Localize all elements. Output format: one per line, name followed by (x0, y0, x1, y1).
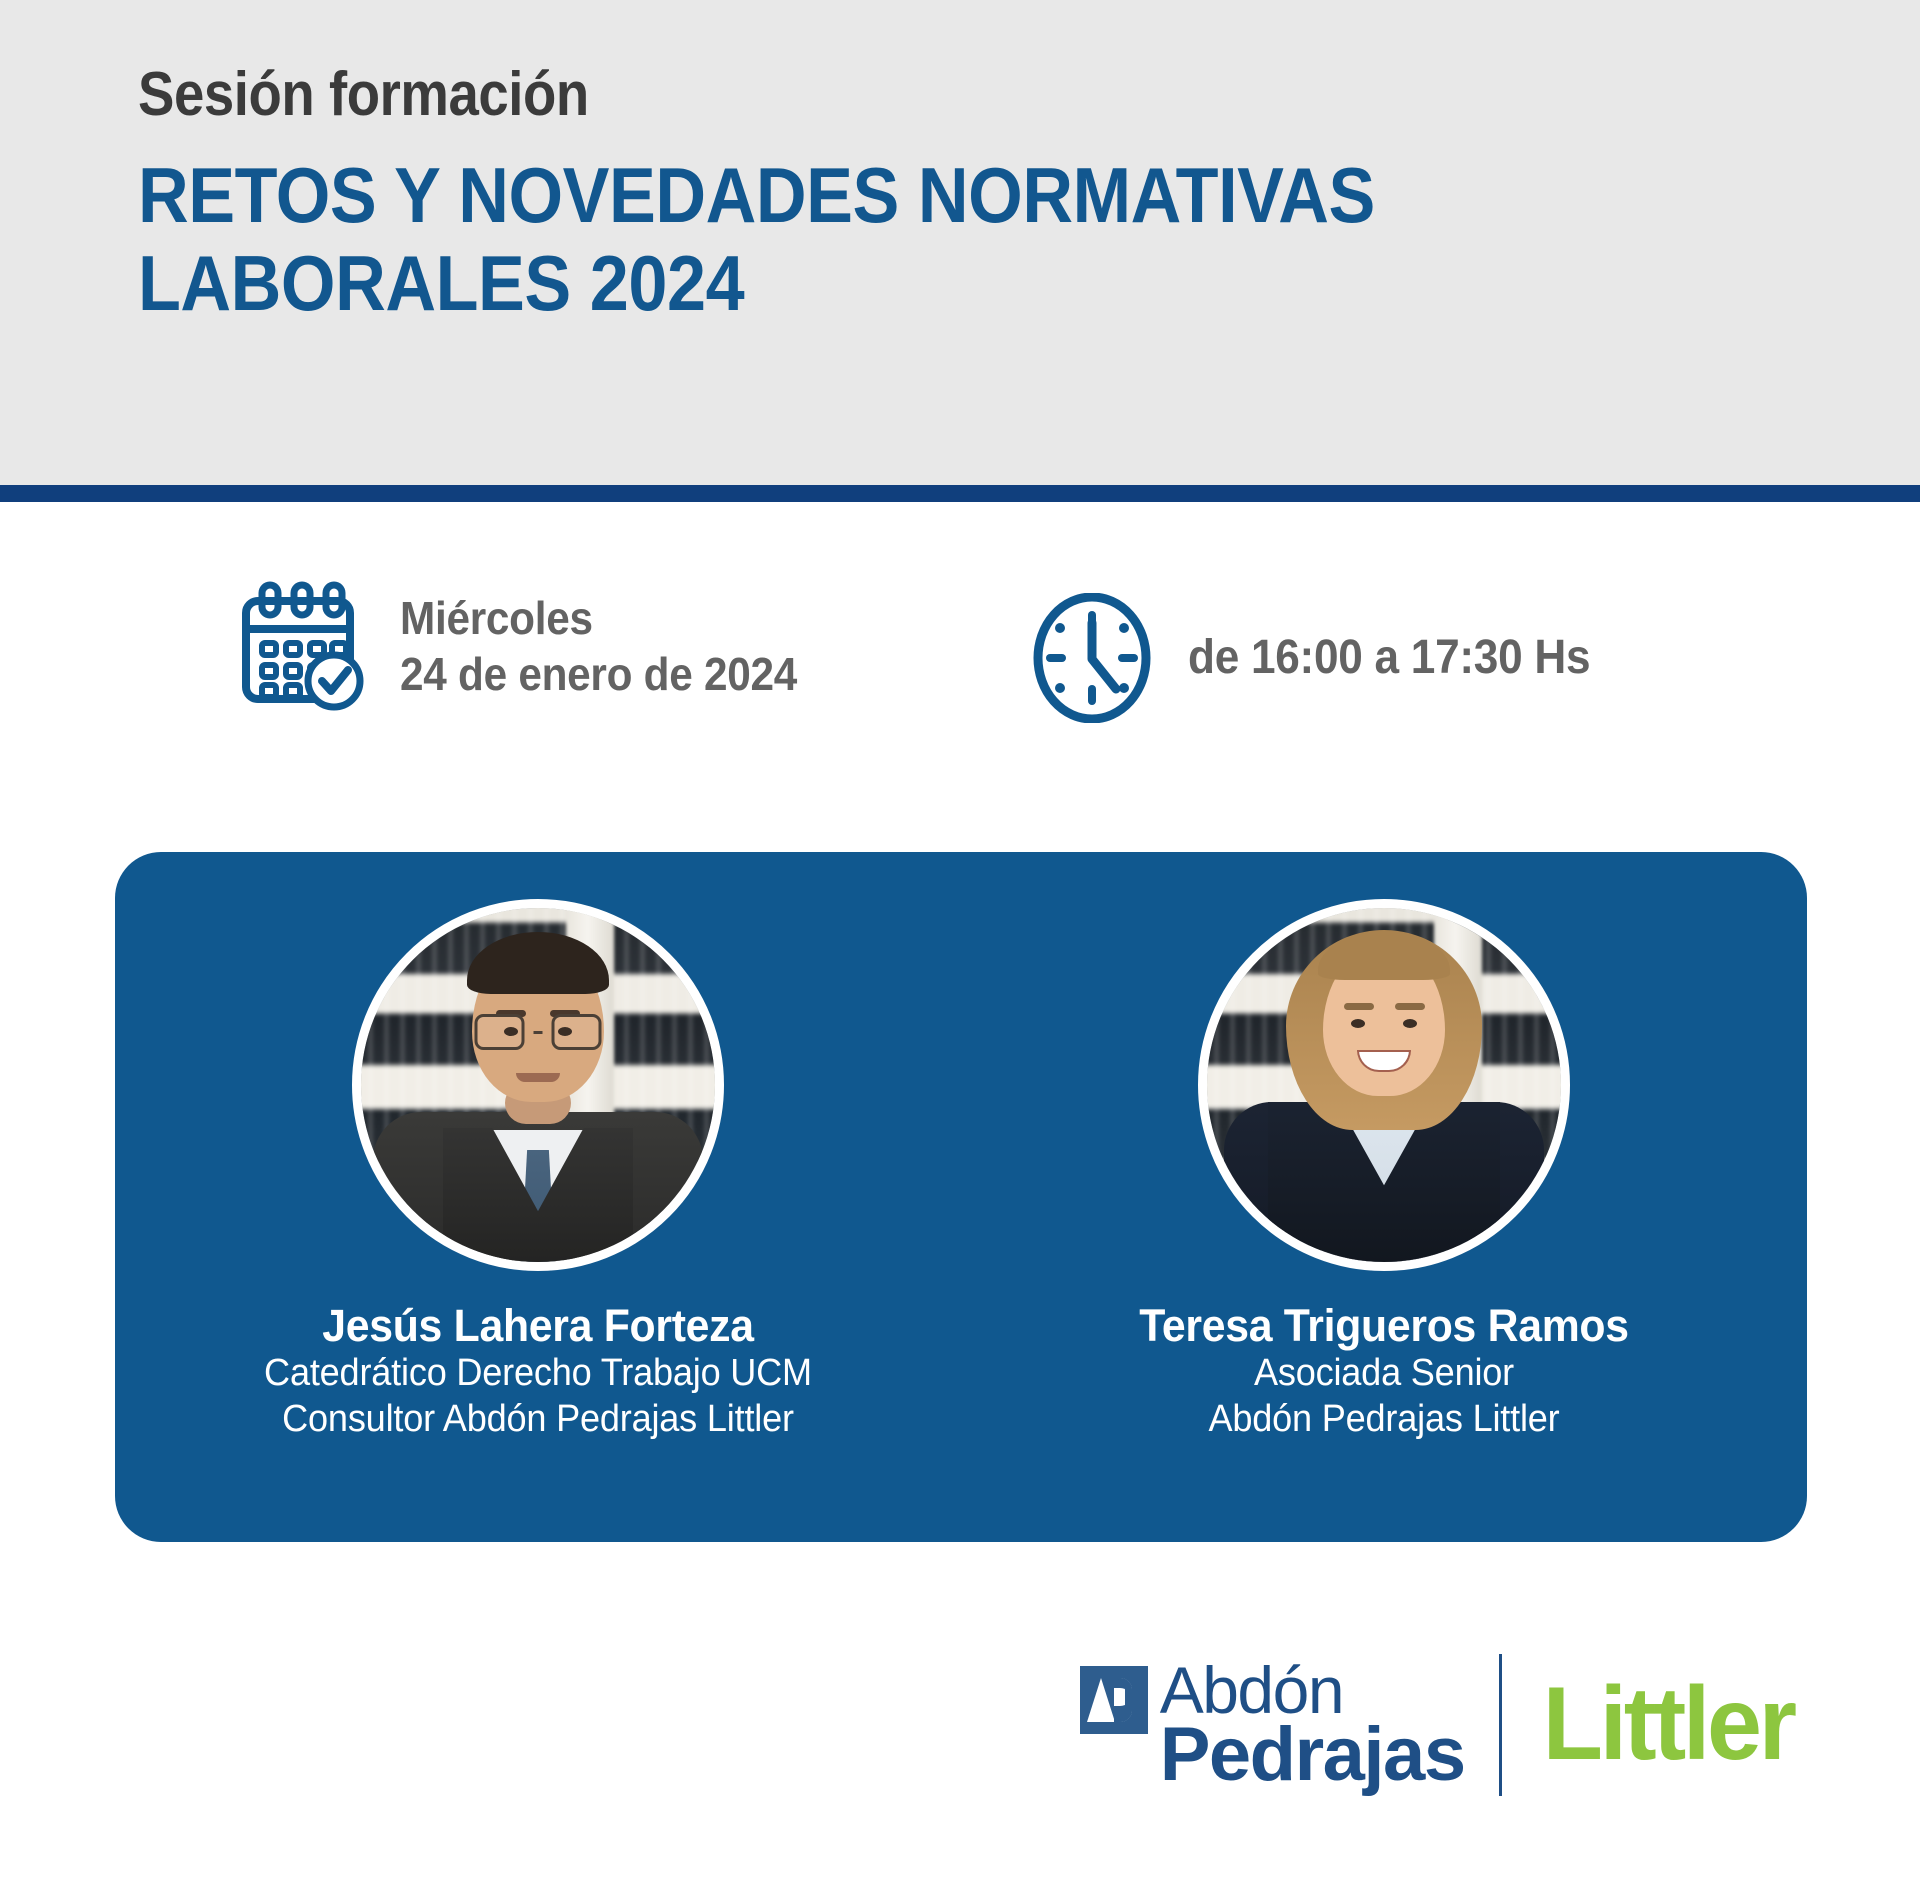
speaker-role-line-2: Consultor Abdón Pedrajas Littler (155, 1397, 921, 1442)
speaker-name: Teresa Trigueros Ramos (1001, 1301, 1767, 1351)
avatar (352, 899, 724, 1271)
header-divider-rule (0, 485, 1920, 502)
event-date-weekday: Miércoles (400, 590, 797, 646)
event-date-block: Miércoles 24 de enero de 2024 (238, 581, 832, 711)
speakers-grid: Jesús Lahera Forteza Catedrático Derecho… (115, 852, 1807, 1542)
speaker-card-1: Jesús Lahera Forteza Catedrático Derecho… (115, 852, 961, 1542)
clock-icon (1030, 593, 1154, 723)
event-info-row: Miércoles 24 de enero de 2024 de 16:00 a… (0, 575, 1920, 755)
session-kicker: Sesión formación (138, 62, 1581, 127)
logo-word-pedrajas: Pedrajas (1160, 1720, 1465, 1790)
footer: Abdón Pedrajas Littler (0, 1640, 1920, 1850)
header-text-block: Sesión formación RETOS Y NOVEDADES NORMA… (138, 62, 1778, 327)
speaker-meta-2: Teresa Trigueros Ramos Asociada Senior A… (961, 1301, 1807, 1442)
event-time-text: de 16:00 a 17:30 Hs (1188, 629, 1590, 688)
page-title-line-2: LABORALES 2024 (138, 239, 1614, 327)
abdon-pedrajas-wordmark: Abdón Pedrajas (1160, 1660, 1465, 1791)
event-time-block: de 16:00 a 17:30 Hs (1030, 593, 1625, 723)
speakers-card: Jesús Lahera Forteza Catedrático Derecho… (115, 852, 1807, 1542)
event-time-range: de 16:00 a 17:30 Hs (1188, 629, 1590, 688)
avatar (1198, 899, 1570, 1271)
page-title-line-1: RETOS Y NOVEDADES NORMATIVAS (138, 151, 1614, 239)
portrait-jesus-lahera (361, 908, 715, 1262)
ap-monogram-icon (1080, 1666, 1148, 1734)
logo-divider (1499, 1654, 1502, 1796)
event-date-full: 24 de enero de 2024 (400, 646, 797, 702)
speaker-role-line-1: Catedrático Derecho Trabajo UCM (155, 1351, 921, 1396)
portrait-teresa-trigueros (1207, 908, 1561, 1262)
header-banner: Sesión formación RETOS Y NOVEDADES NORMA… (0, 0, 1920, 485)
speaker-name: Jesús Lahera Forteza (155, 1301, 921, 1351)
calendar-check-icon (238, 581, 366, 711)
speaker-role-line-1: Asociada Senior (1001, 1351, 1767, 1396)
littler-wordmark: Littler (1542, 1678, 1793, 1772)
event-date-text: Miércoles 24 de enero de 2024 (400, 590, 797, 702)
speaker-role-line-2: Abdón Pedrajas Littler (1001, 1397, 1767, 1442)
page-title: RETOS Y NOVEDADES NORMATIVAS LABORALES 2… (138, 151, 1614, 327)
speaker-meta-1: Jesús Lahera Forteza Catedrático Derecho… (115, 1301, 961, 1442)
brand-logo-lockup: Abdón Pedrajas Littler (1080, 1654, 1800, 1796)
logo-word-abdon: Abdón (1160, 1660, 1465, 1721)
abdon-pedrajas-logo: Abdón Pedrajas (1080, 1660, 1465, 1791)
speaker-card-2: Teresa Trigueros Ramos Asociada Senior A… (961, 852, 1807, 1542)
